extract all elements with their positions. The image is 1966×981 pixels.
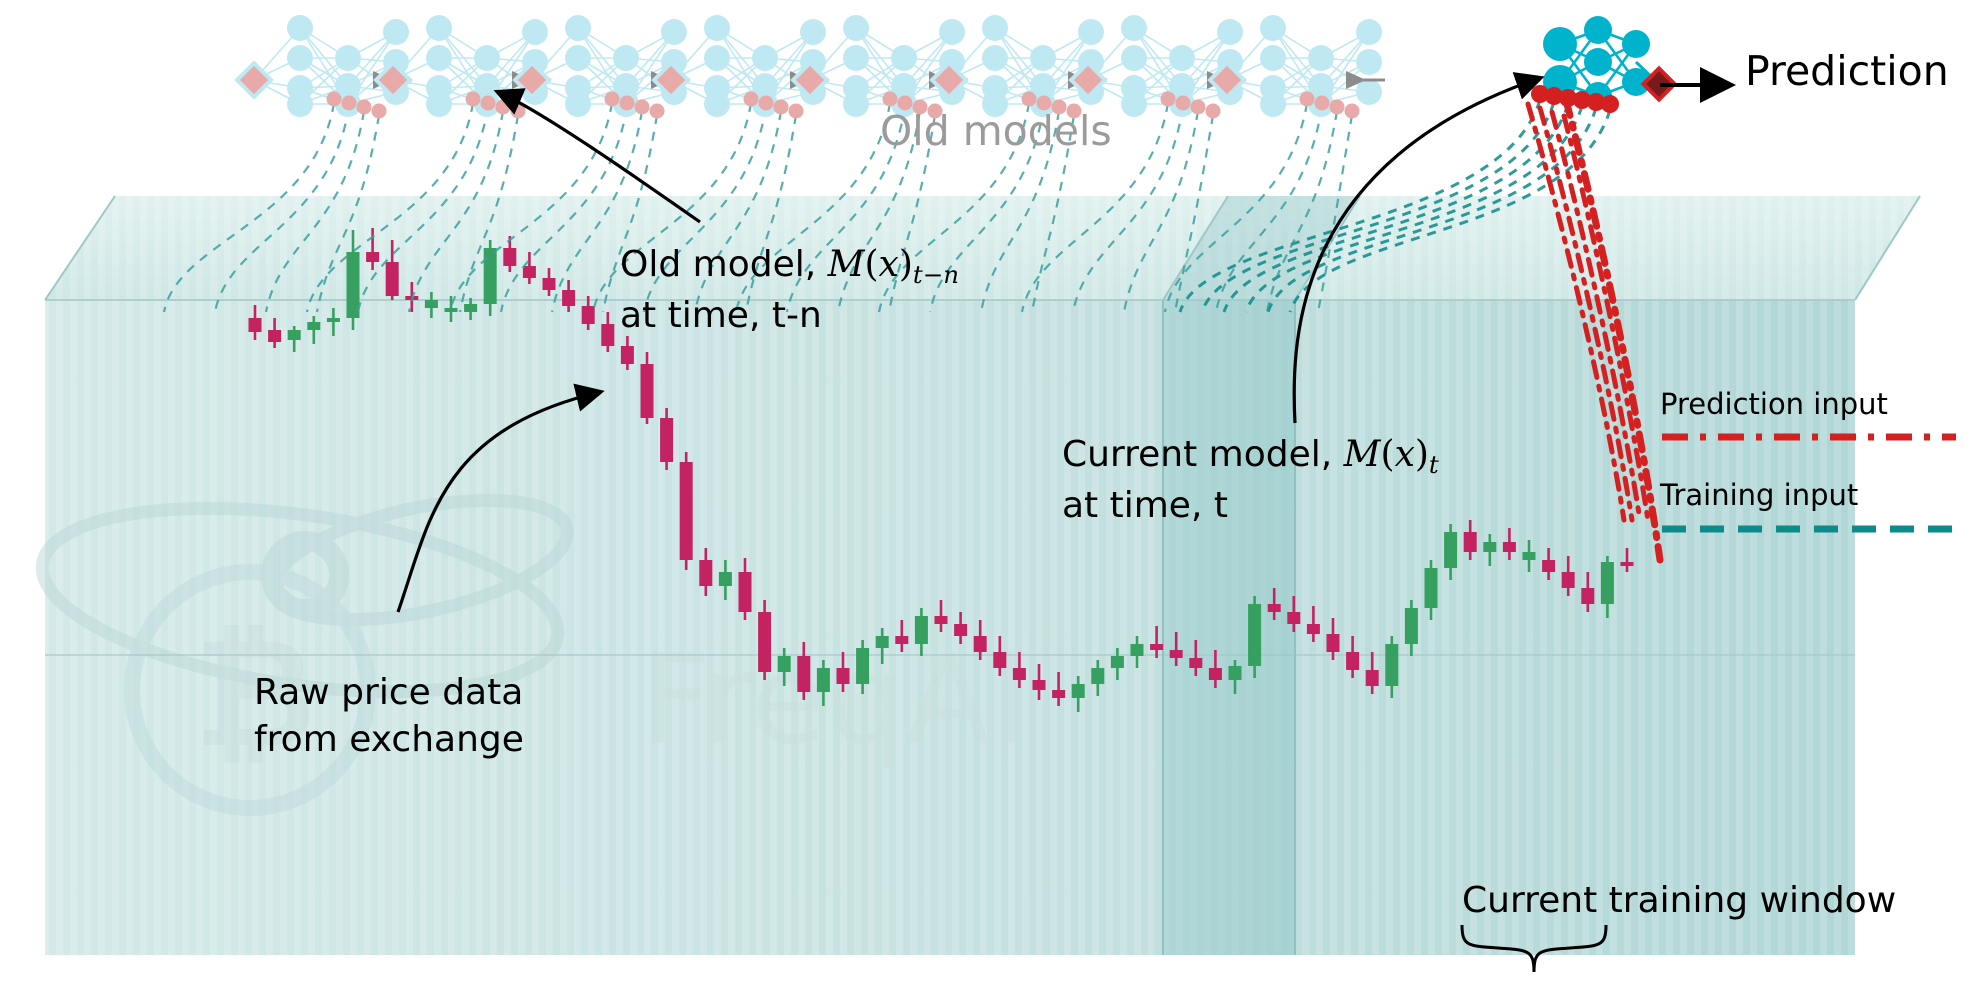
training-window-brace bbox=[1462, 925, 1606, 972]
leader-old-model bbox=[498, 92, 700, 222]
old-model-time-line: at time, t-n bbox=[620, 295, 959, 336]
legend-swatch-training-input bbox=[1660, 517, 1960, 541]
figure-root: ₿ FreqAI bbox=[0, 0, 1966, 981]
current-training-window-label: Current training window bbox=[1462, 880, 1896, 921]
old-model-annotation: Old model, M(x)t−n at time, t-n bbox=[620, 244, 959, 336]
raw-price-annotation: Raw price data from exchange bbox=[254, 672, 524, 761]
leader-current-model bbox=[1294, 78, 1540, 423]
current-model-annotation: Current model, M(x)t at time, t bbox=[1062, 434, 1439, 526]
raw-price-line1: Raw price data bbox=[254, 672, 524, 713]
current-model-time-line: at time, t bbox=[1062, 485, 1439, 526]
raw-price-line2: from exchange bbox=[254, 719, 524, 760]
legend: Prediction input Training input bbox=[1660, 388, 1960, 541]
prediction-label: Prediction bbox=[1745, 48, 1949, 95]
legend-label-training-input: Training input bbox=[1660, 479, 1960, 512]
legend-label-prediction-input: Prediction input bbox=[1660, 388, 1960, 421]
leader-raw-price bbox=[398, 392, 600, 612]
legend-swatch-prediction-input bbox=[1660, 425, 1960, 449]
old-models-label: Old models bbox=[880, 108, 1112, 155]
